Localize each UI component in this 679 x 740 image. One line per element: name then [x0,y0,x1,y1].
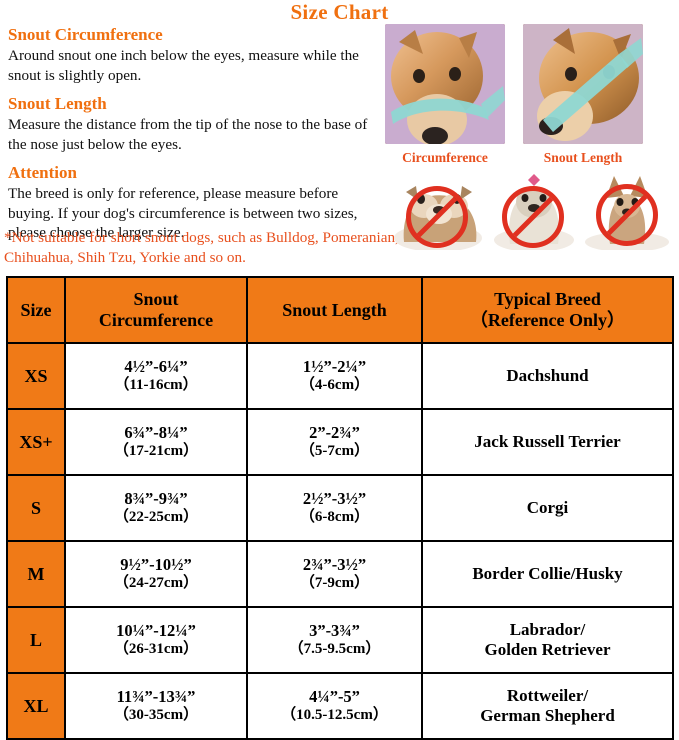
len-cm: （7.5-9.5cm） [250,640,419,659]
cell-length: 2”-2¾” （5-7cm） [247,409,422,475]
cell-length: 2¾”-3½” （7-9cm） [247,541,422,607]
table-row: M 9½”-10½” （24-27cm） 2¾”-3½” （7-9cm） Bor… [7,541,673,607]
size-chart-page: Size Chart Snout Circumference Around sn… [0,0,679,703]
cell-size: M [7,541,65,607]
len-inches: 4¼”-5” [250,687,419,706]
photo-snout-length [523,24,643,144]
circ-cm: （22-25cm） [68,508,244,527]
header-circumference-line1: Snout [133,289,178,309]
circ-inches: 6¾”-8¼” [68,423,244,442]
section-body-circumference: Around snout one inch below the eyes, me… [8,46,378,85]
len-inches: 2½”-3½” [250,489,419,508]
cell-length: 4¼”-5” （10.5-12.5cm） [247,673,422,739]
cell-breed: Corgi [422,475,673,541]
prohibited-breed-shih-tzu [488,172,580,250]
circ-inches: 10¼”-12¼” [68,621,244,640]
cell-size: XS [7,343,65,409]
len-inches: 2”-2¾” [250,423,419,442]
cell-breed: Labrador/ Golden Retriever [422,607,673,673]
table-row: L 10¼”-12¼” （26-31cm） 3”-3¾” （7.5-9.5cm）… [7,607,673,673]
len-inches: 3”-3¾” [250,621,419,640]
len-inches: 2¾”-3½” [250,555,419,574]
table-header-row: Size Snout Circumference Snout Length Ty… [7,277,673,343]
warning-text: *Not suitable for short snout dogs, such… [4,228,404,268]
cell-breed: Jack Russell Terrier [422,409,673,475]
header-size: Size [7,277,65,343]
cell-circumference: 11¾”-13¾” （30-35cm） [65,673,247,739]
cell-length: 2½”-3½” （6-8cm） [247,475,422,541]
cell-circumference: 4½”-6¼” （11-16cm） [65,343,247,409]
cell-breed: Dachshund [422,343,673,409]
header-circumference-line2: Circumference [99,310,213,330]
table-header: Size Snout Circumference Snout Length Ty… [7,277,673,343]
prohibition-icon [596,184,658,246]
len-inches: 1½”-2¼” [250,357,419,376]
breed-line1: Labrador/ [510,620,586,639]
prohibited-breed-chihuahua [580,172,675,250]
circ-cm: （30-35cm） [68,706,244,725]
circ-inches: 9½”-10½” [68,555,244,574]
len-cm: （10.5-12.5cm） [250,706,419,725]
table-row: XS 4½”-6¼” （11-16cm） 1½”-2¼” （4-6cm） Dac… [7,343,673,409]
header-breed-line2: （Reference Only） [470,310,625,330]
prohibition-icon [406,186,468,248]
prohibited-breeds-row [390,172,675,250]
breed-line2: Golden Retriever [484,640,610,659]
section-body-length: Measure the distance from the tip of the… [8,115,378,154]
table-row: S 8¾”-9¾” （22-25cm） 2½”-3½” （6-8cm） Corg… [7,475,673,541]
header-breed-line1: Typical Breed [494,289,601,309]
prohibition-icon [502,186,564,248]
cell-circumference: 10¼”-12¼” （26-31cm） [65,607,247,673]
header-circumference: Snout Circumference [65,277,247,343]
circ-cm: （11-16cm） [68,376,244,395]
cell-length: 3”-3¾” （7.5-9.5cm） [247,607,422,673]
page-title: Size Chart [0,0,679,25]
len-cm: （7-9cm） [250,574,419,593]
cell-breed: Border Collie/Husky [422,541,673,607]
cell-length: 1½”-2¼” （4-6cm） [247,343,422,409]
cell-circumference: 6¾”-8¼” （17-21cm） [65,409,247,475]
photo-caption-circumference: Circumference [385,150,505,166]
instructions-column: Snout Circumference Around snout one inc… [8,24,378,251]
cell-circumference: 8¾”-9¾” （22-25cm） [65,475,247,541]
size-chart-table: Size Snout Circumference Snout Length Ty… [6,276,674,740]
len-cm: （4-6cm） [250,376,419,395]
table-row: XS+ 6¾”-8¼” （17-21cm） 2”-2¾” （5-7cm） Jac… [7,409,673,475]
circ-inches: 4½”-6¼” [68,357,244,376]
prohibited-breed-bulldog [390,172,488,250]
cell-breed: Rottweiler/ German Shepherd [422,673,673,739]
cell-size: L [7,607,65,673]
len-cm: （6-8cm） [250,508,419,527]
section-heading-circumference: Snout Circumference [8,24,378,45]
len-cm: （5-7cm） [250,442,419,461]
header-snout-length: Snout Length [247,277,422,343]
circ-cm: （26-31cm） [68,640,244,659]
header-typical-breed: Typical Breed （Reference Only） [422,277,673,343]
table-body: XS 4½”-6¼” （11-16cm） 1½”-2¼” （4-6cm） Dac… [7,343,673,739]
cell-size: XL [7,673,65,739]
cell-circumference: 9½”-10½” （24-27cm） [65,541,247,607]
dog-head-length-illustration [523,24,643,144]
circ-cm: （17-21cm） [68,442,244,461]
section-heading-attention: Attention [8,162,378,183]
photo-caption-snout-length: Snout Length [523,150,643,166]
table-row: XL 11¾”-13¾” （30-35cm） 4¼”-5” （10.5-12.5… [7,673,673,739]
breed-line1: Rottweiler/ [507,686,588,705]
cell-size: XS+ [7,409,65,475]
circ-inches: 8¾”-9¾” [68,489,244,508]
photo-circumference [385,24,505,144]
section-heading-length: Snout Length [8,93,378,114]
breed-line2: German Shepherd [480,706,615,725]
cell-size: S [7,475,65,541]
circ-cm: （24-27cm） [68,574,244,593]
dog-head-circumference-illustration [385,24,505,144]
circ-inches: 11¾”-13¾” [68,687,244,706]
